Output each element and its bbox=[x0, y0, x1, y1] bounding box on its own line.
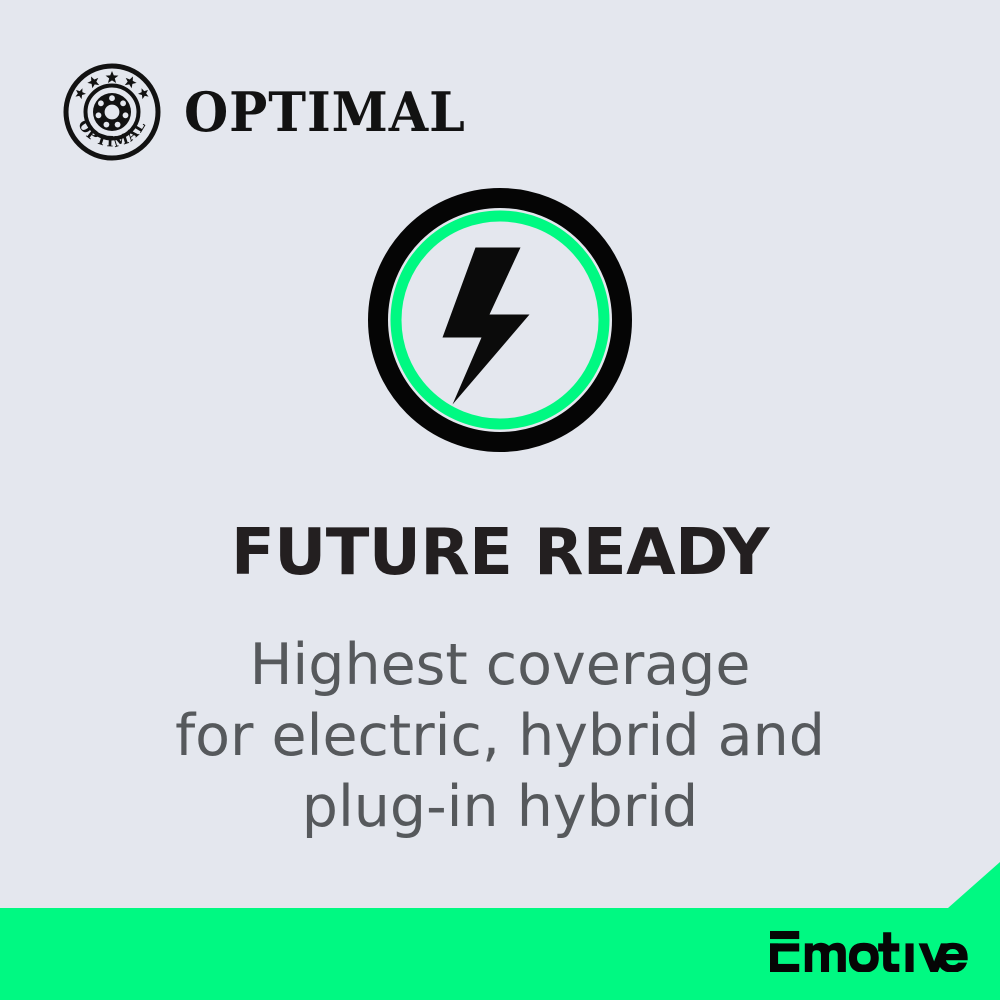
page-title: FUTURE READY bbox=[0, 521, 1000, 585]
subtitle-line-3: plug-in hybrid bbox=[0, 772, 1000, 843]
subtitle-line-1: Highest coverage bbox=[0, 630, 1000, 701]
brand-lockup: OPTIMAL OPTIMAL bbox=[62, 62, 484, 162]
emotive-logo bbox=[770, 920, 968, 972]
optimal-badge-icon: OPTIMAL bbox=[62, 62, 162, 162]
lightning-bolt-in-circle-icon bbox=[368, 188, 632, 452]
subtitle: Highest coverage for electric, hybrid an… bbox=[0, 630, 1000, 843]
promo-card: OPTIMAL OPTIMAL FUTURE READY Highest cov… bbox=[0, 0, 1000, 1000]
brand-wordmark: OPTIMAL bbox=[184, 85, 466, 139]
subtitle-line-2: for electric, hybrid and bbox=[0, 701, 1000, 772]
footer-banner bbox=[0, 862, 1000, 1000]
